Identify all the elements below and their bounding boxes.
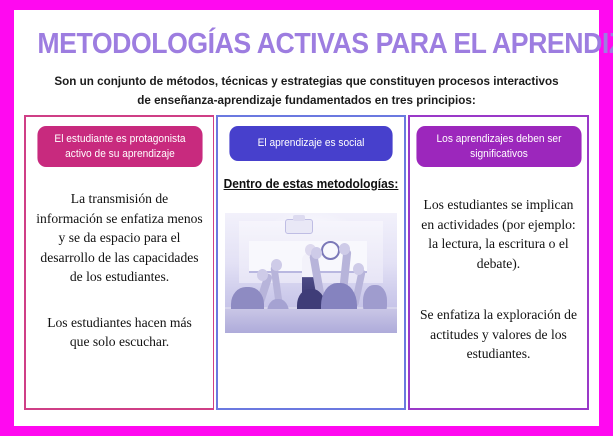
classroom-photo — [225, 213, 397, 333]
poster-subtitle: Son un conjunto de métodos, técnicas y e… — [52, 72, 561, 110]
poster-outer-frame: METODOLOGÍAS ACTIVAS PARA EL APRENDIZAJE… — [0, 0, 613, 436]
column-student-protagonist: El estudiante es protagonista activo de … — [24, 115, 214, 410]
student-hand — [311, 247, 322, 259]
column1-paragraph-1: La transmisión de información se enfatiz… — [26, 189, 213, 287]
classroom-photo-image — [225, 213, 397, 333]
student-hand — [339, 243, 350, 255]
column2-heading: Dentro de estas metodologías: — [223, 177, 400, 191]
columns-container: El estudiante es protagonista activo de … — [24, 115, 589, 410]
student-hand — [257, 269, 268, 281]
column3-badge: Los aprendizajes deben ser significativo… — [416, 126, 581, 167]
column3-paragraph-1: Los estudiantes se implican en actividad… — [410, 195, 587, 273]
column-social-learning: El aprendizaje es social Dentro de estas… — [216, 115, 406, 410]
raised-hand-ring — [321, 241, 340, 260]
poster-sheet: METODOLOGÍAS ACTIVAS PARA EL APRENDIZAJE… — [14, 10, 599, 426]
column3-paragraph-2: Se enfatiza la exploración de actitudes … — [410, 305, 587, 364]
student-hand — [353, 263, 364, 275]
column1-paragraph-2: Los estudiantes hacen más que solo escuc… — [26, 313, 213, 352]
page-title: METODOLOGÍAS ACTIVAS PARA EL APRENDIZAJE — [37, 28, 575, 61]
column-meaningful-learning: Los aprendizajes deben ser significativo… — [408, 115, 589, 410]
student-hand — [271, 259, 282, 271]
column1-badge: El estudiante es protagonista activo de … — [37, 126, 202, 167]
projector-icon — [285, 219, 313, 234]
column2-badge: El aprendizaje es social — [229, 126, 392, 161]
desk-row-front — [225, 309, 397, 333]
